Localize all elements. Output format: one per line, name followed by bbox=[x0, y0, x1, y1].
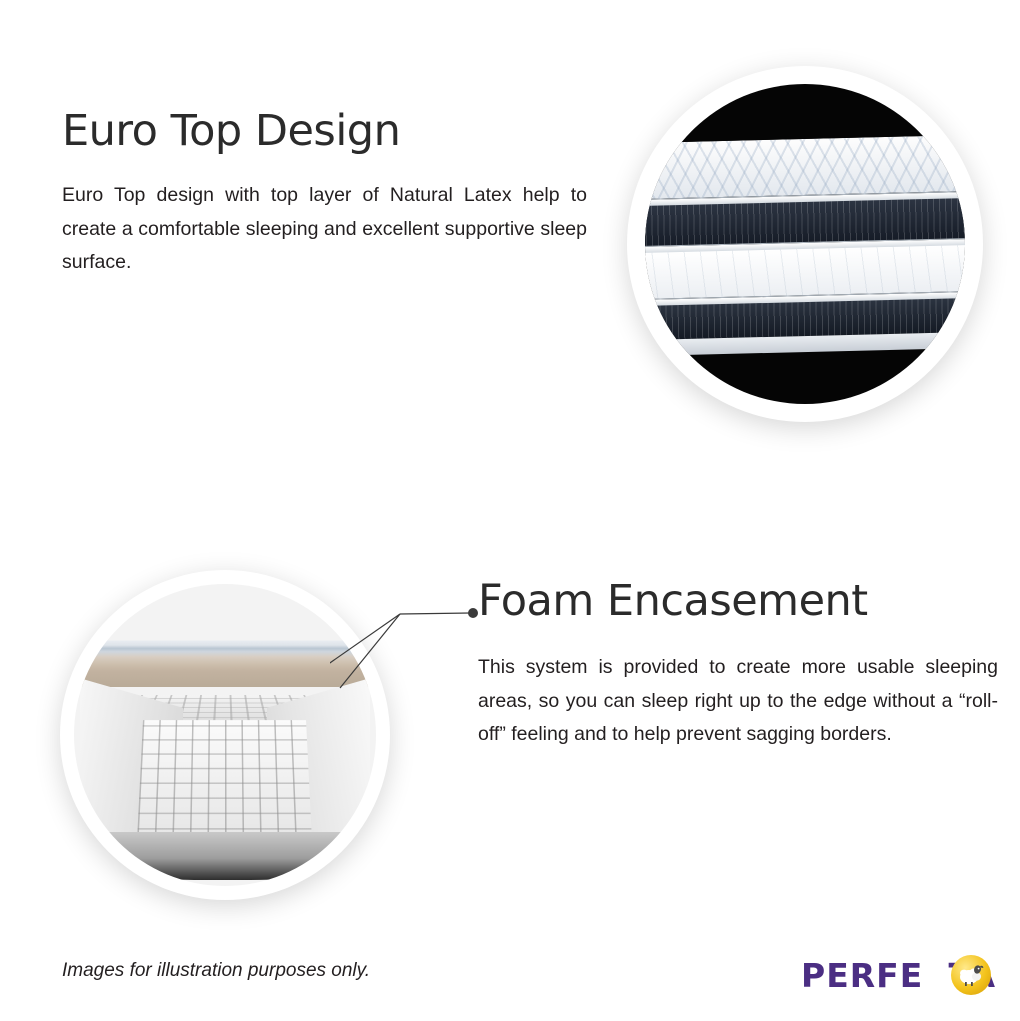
euro-top-body-text: Euro Top design with top layer of Natura… bbox=[62, 179, 587, 280]
pocketed-coil-unit bbox=[137, 720, 313, 845]
mattress-layer-quilted-top bbox=[645, 135, 965, 199]
mattress-cutaway-illustration bbox=[645, 135, 965, 353]
mattress-base-foundation bbox=[98, 832, 352, 880]
foam-encasement-photo bbox=[60, 570, 390, 900]
page-root: Euro Top Design Euro Top design with top… bbox=[0, 0, 1020, 1021]
foam-layer-top-comfort-layers bbox=[74, 641, 376, 687]
foam-encasement-illustration bbox=[74, 584, 376, 886]
disclaimer-text: Images for illustration purposes only. bbox=[62, 960, 370, 982]
mattress-layer-white-border bbox=[645, 245, 965, 299]
foam-encasement-photo-inner bbox=[74, 584, 376, 886]
brand-wordmark: PERFECTA bbox=[801, 959, 996, 992]
brand-wordmark-prefix: PERFE bbox=[801, 956, 923, 995]
brand-logo: PERFECTA bbox=[801, 952, 996, 998]
page-title-foam-encasement: Foam Encasement bbox=[478, 578, 998, 625]
brand-sheep-badge-icon bbox=[951, 955, 991, 995]
euro-top-photo-inner bbox=[645, 84, 965, 404]
page-title-euro-top: Euro Top Design bbox=[62, 108, 587, 155]
euro-top-photo bbox=[627, 66, 983, 422]
euro-top-text-block: Euro Top Design Euro Top design with top… bbox=[62, 108, 587, 280]
foam-encasement-text-block: Foam Encasement This system is provided … bbox=[478, 578, 998, 752]
foam-encasement-body-text: This system is provided to create more u… bbox=[478, 651, 998, 752]
